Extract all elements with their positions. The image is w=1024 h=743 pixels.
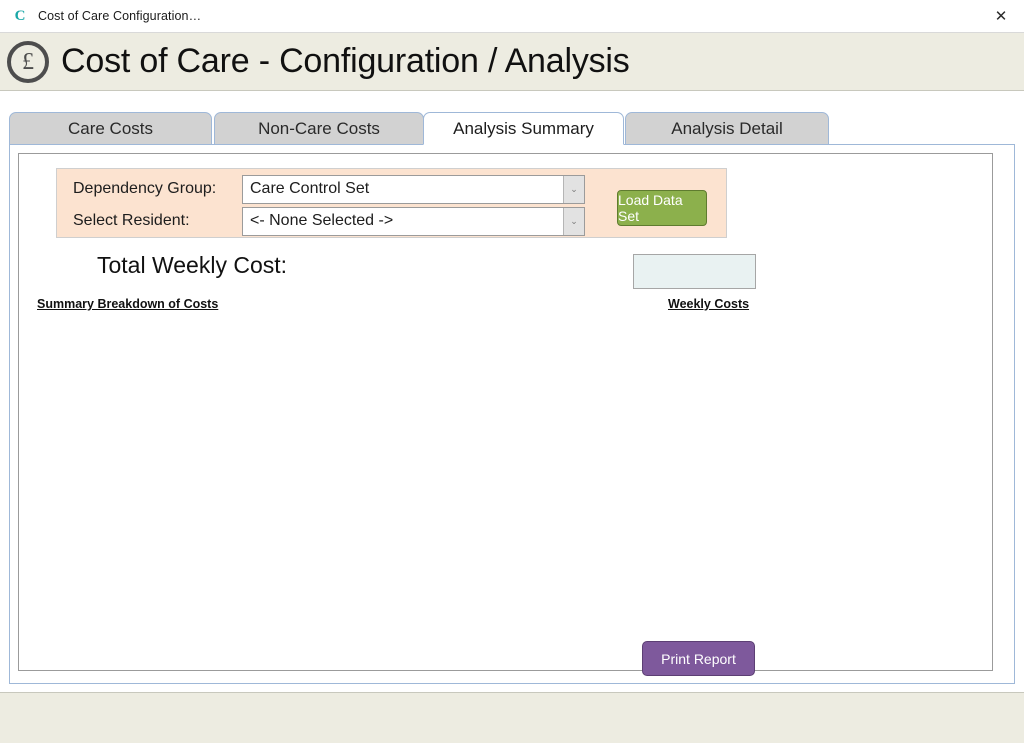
dependency-group-value: Care Control Set	[243, 180, 369, 198]
chevron-down-icon[interactable]: ⌄	[563, 208, 584, 235]
tab-label: Non-Care Costs	[258, 119, 380, 139]
chevron-down-icon[interactable]: ⌄	[563, 176, 584, 203]
tab-care-costs[interactable]: Care Costs	[9, 112, 212, 145]
dependency-group-label: Dependency Group:	[57, 180, 242, 198]
app-logo-icon: C	[12, 8, 28, 24]
dependency-group-select[interactable]: Care Control Set ⌄	[242, 175, 585, 204]
data-selection-panel: Dependency Group: Care Control Set ⌄ Sel…	[56, 168, 727, 238]
load-data-set-label: Load Data Set	[618, 192, 706, 224]
pound-sterling-icon: £	[7, 41, 49, 83]
column-header-weekly-costs: Weekly Costs	[668, 297, 749, 311]
print-report-label: Print Report	[661, 651, 736, 667]
dependency-group-row: Dependency Group: Care Control Set ⌄	[57, 175, 585, 203]
tab-strip: Care Costs Non-Care Costs Analysis Summa…	[9, 112, 1015, 145]
tab-non-care-costs[interactable]: Non-Care Costs	[214, 112, 424, 145]
tab-analysis-summary[interactable]: Analysis Summary	[423, 112, 624, 145]
column-header-summary-breakdown: Summary Breakdown of Costs	[37, 297, 218, 311]
tab-analysis-detail[interactable]: Analysis Detail	[625, 112, 829, 145]
title-bar: C Cost of Care Configuration… ✕	[0, 0, 1024, 33]
application-window: C Cost of Care Configuration… ✕ £ Cost o…	[0, 0, 1024, 743]
load-data-set-button[interactable]: Load Data Set	[617, 190, 707, 226]
total-weekly-cost-value	[633, 254, 756, 289]
page-title: Cost of Care - Configuration / Analysis	[61, 42, 630, 81]
analysis-summary-panel: Dependency Group: Care Control Set ⌄ Sel…	[18, 153, 993, 671]
select-resident-row: Select Resident: <- None Selected -> ⌄	[57, 207, 585, 235]
tab-content-analysis-summary: Dependency Group: Care Control Set ⌄ Sel…	[9, 144, 1015, 684]
tab-label: Care Costs	[68, 119, 153, 139]
close-icon[interactable]: ✕	[978, 0, 1024, 32]
tab-label: Analysis Detail	[671, 119, 783, 139]
total-weekly-cost-label: Total Weekly Cost:	[97, 252, 287, 279]
select-resident-select[interactable]: <- None Selected -> ⌄	[242, 207, 585, 236]
print-report-button[interactable]: Print Report	[642, 641, 755, 676]
page-header: £ Cost of Care - Configuration / Analysi…	[0, 33, 1024, 91]
window-title: Cost of Care Configuration…	[38, 9, 201, 23]
select-resident-value: <- None Selected ->	[243, 212, 393, 230]
status-bar	[0, 692, 1024, 743]
tab-label: Analysis Summary	[453, 119, 594, 139]
select-resident-label: Select Resident:	[57, 212, 242, 230]
